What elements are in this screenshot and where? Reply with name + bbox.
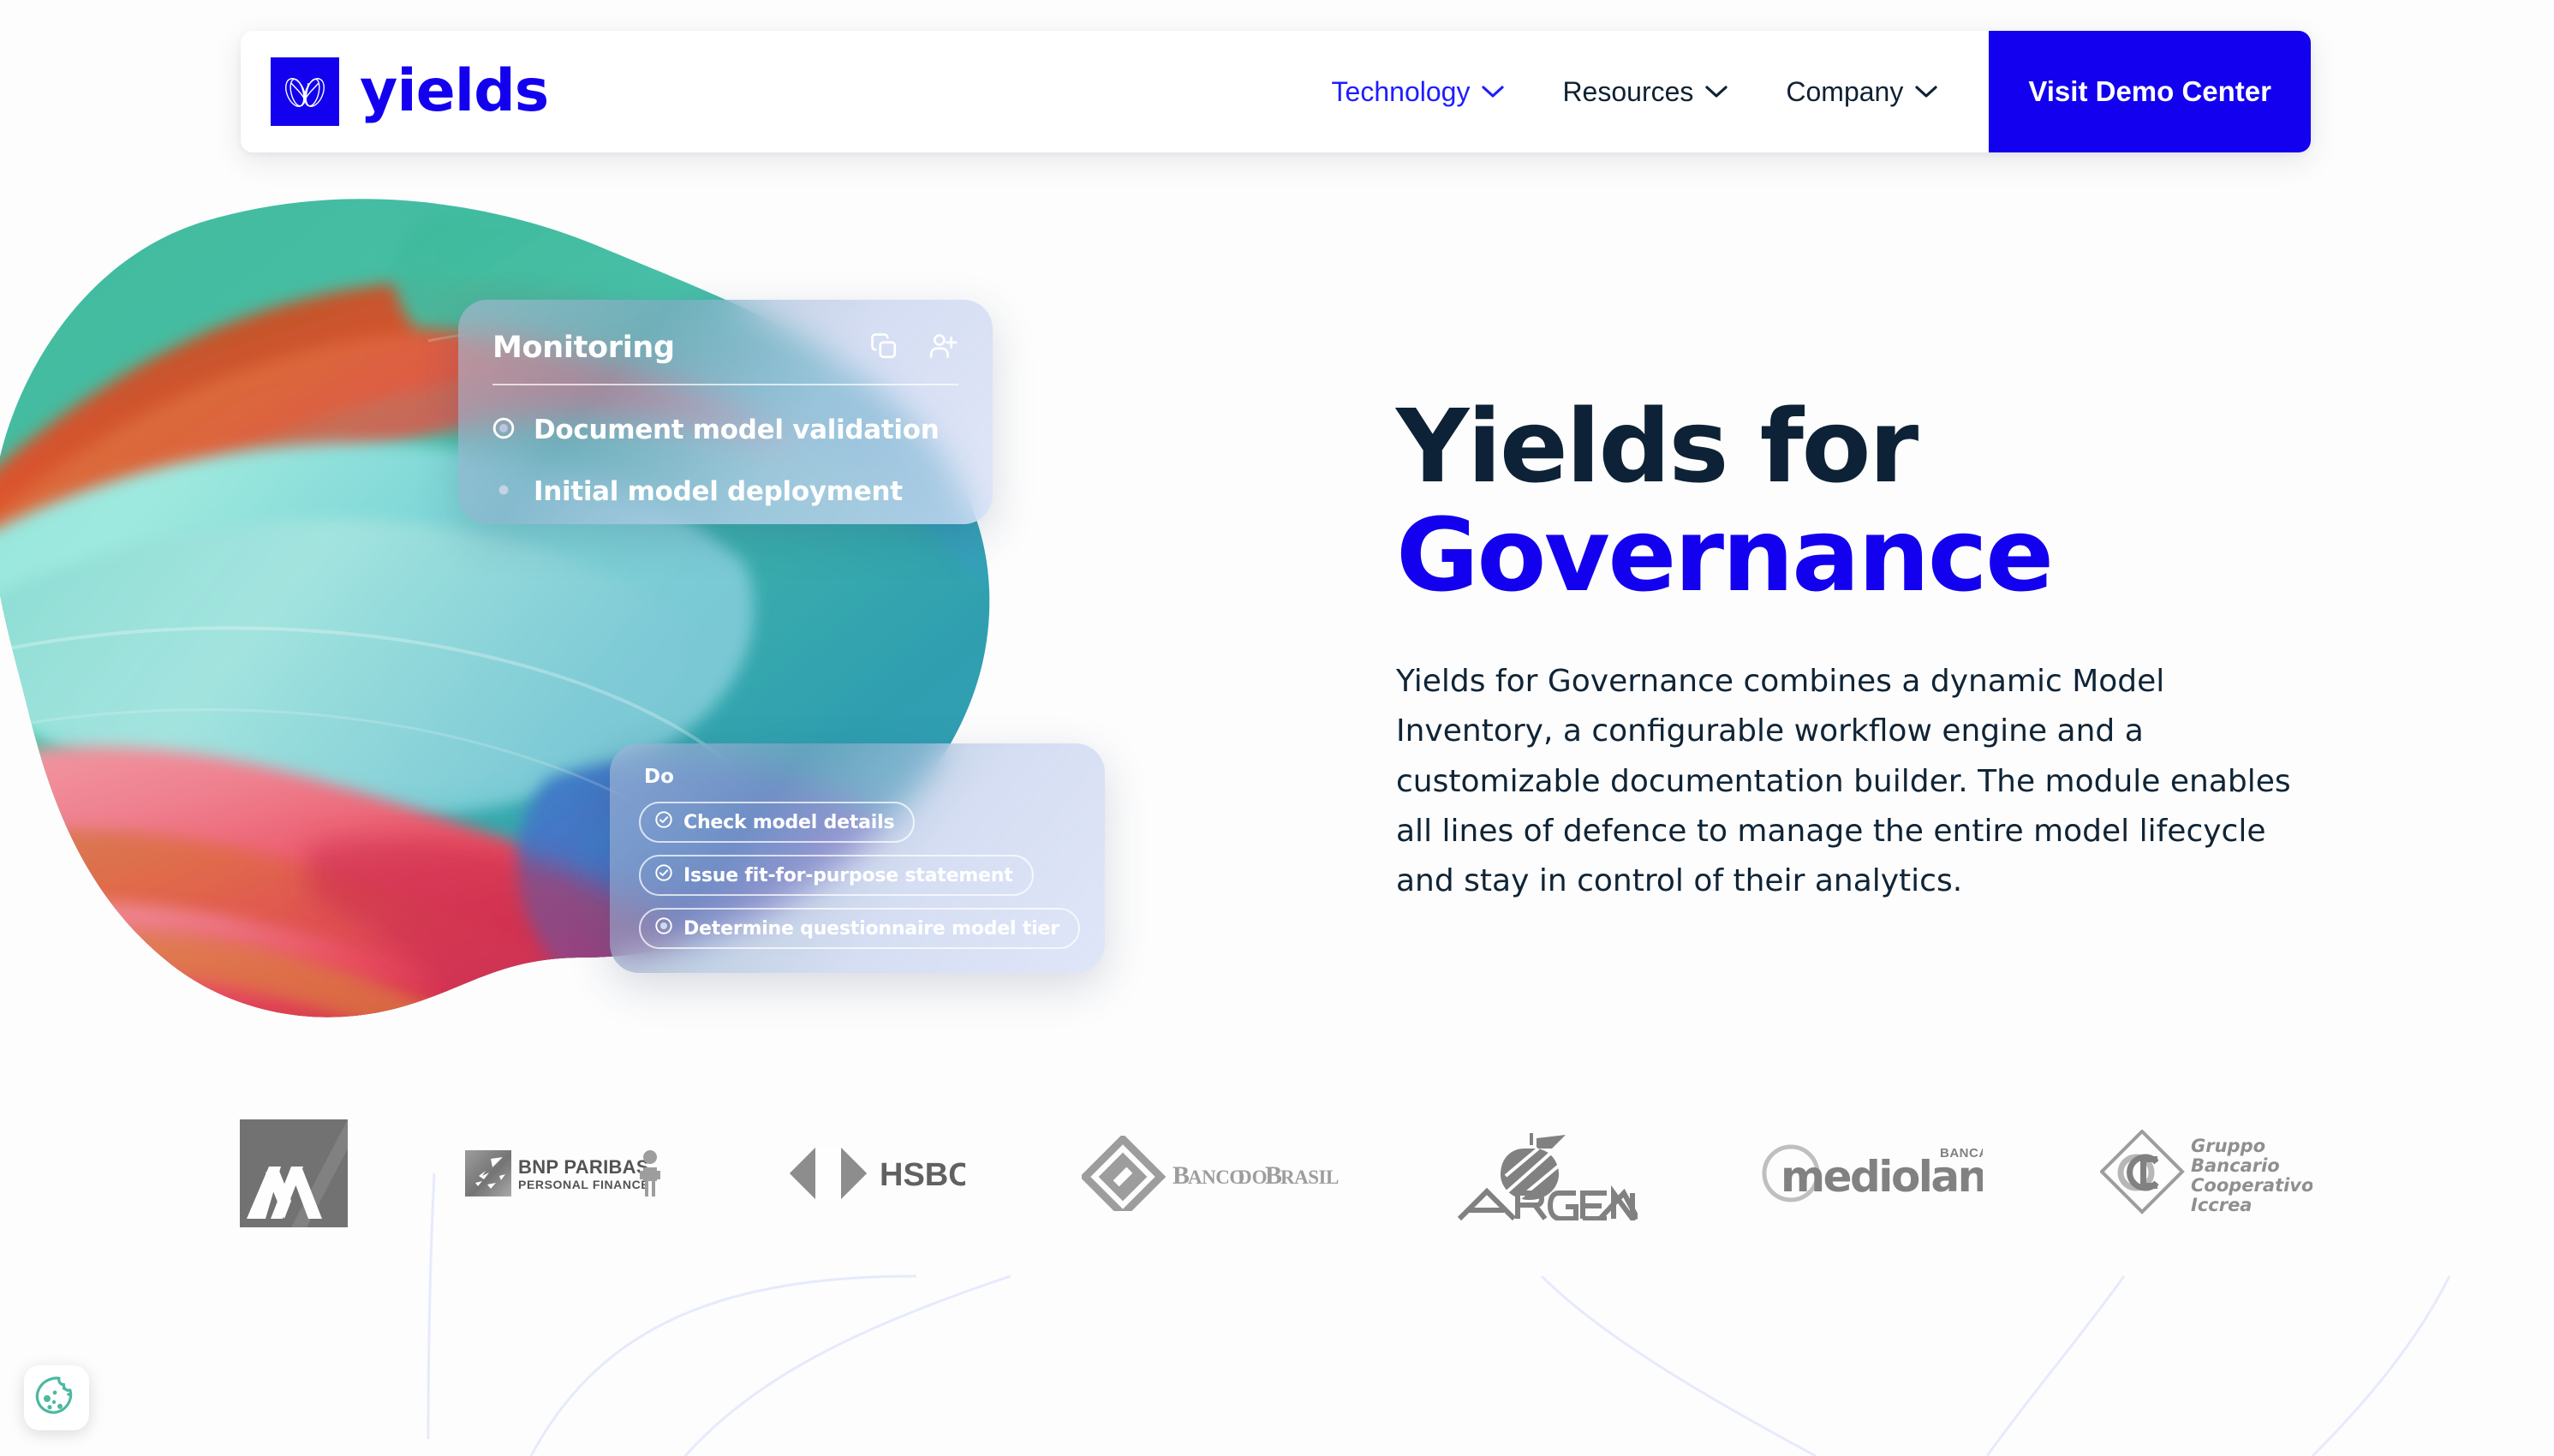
svg-text:BANCA: BANCA xyxy=(1940,1146,1983,1161)
svg-text:PERSONAL FINANCE: PERSONAL FINANCE xyxy=(518,1178,649,1191)
client-logo-strip: BNP PARIBAS PERSONAL FINANCE xyxy=(240,1109,2312,1238)
hero-title-line1: Yields for xyxy=(1396,387,1917,505)
cookie-icon xyxy=(33,1374,80,1423)
do-chip[interactable]: Issue fit-for-purpose statement xyxy=(639,855,1034,896)
monitoring-card-divider xyxy=(492,384,958,385)
page-root: yields Technology Resources Company xyxy=(0,0,2554,1456)
task-row[interactable]: Document model validation xyxy=(492,415,958,445)
cookie-settings-button[interactable] xyxy=(24,1365,89,1430)
svg-text:Iccrea: Iccrea xyxy=(2191,1195,2252,1215)
nav-item-company[interactable]: Company xyxy=(1757,76,1966,108)
hero-description: Yields for Governance combines a dynamic… xyxy=(1396,657,2321,907)
brand-logo-link[interactable]: yields xyxy=(271,57,548,126)
svg-text:RASIL: RASIL xyxy=(1280,1167,1339,1188)
axa-logo xyxy=(240,1119,348,1227)
visit-demo-center-button[interactable]: Visit Demo Center xyxy=(1989,31,2311,152)
monitoring-card: Monitoring xyxy=(458,300,993,524)
do-card: Do Check model details xyxy=(610,743,1105,973)
page-title: Yields for Governance xyxy=(1396,392,2338,611)
radio-dot-icon xyxy=(492,479,515,505)
chevron-down-icon xyxy=(1705,85,1728,98)
nav-item-resources[interactable]: Resources xyxy=(1533,76,1757,108)
svg-text:DO: DO xyxy=(1238,1167,1268,1188)
hero-copy: Yields for Governance Yields for Governa… xyxy=(1396,392,2338,906)
butterfly-lissajous-icon xyxy=(271,57,339,126)
svg-text:Bancario: Bancario xyxy=(2191,1155,2280,1176)
nav-item-label: Company xyxy=(1786,76,1903,108)
task-label: Initial model deployment xyxy=(534,476,903,507)
nav-item-label: Resources xyxy=(1562,76,1693,108)
svg-text:B: B xyxy=(1265,1161,1282,1190)
task-row[interactable]: Initial model deployment xyxy=(492,476,958,507)
radio-selected-icon xyxy=(492,417,515,444)
task-label: Document model validation xyxy=(534,415,940,445)
bnp-paribas-logo: BNP PARIBAS PERSONAL FINANCE xyxy=(465,1145,664,1202)
argenta-logo xyxy=(1456,1126,1638,1220)
iccrea-logo: Gruppo Bancario Cooperativo Iccrea xyxy=(2100,1130,2312,1217)
mediolanum-logo: mediolanum BANCA xyxy=(1755,1137,1983,1210)
do-chip-label: Issue fit-for-purpose statement xyxy=(683,865,1013,886)
hero-title-line2: Governance xyxy=(1396,501,2338,610)
svg-text:HSBC: HSBC xyxy=(880,1157,965,1193)
primary-nav: Technology Resources Company Visit Demo … xyxy=(1303,31,2311,152)
copy-icon[interactable] xyxy=(869,331,898,365)
monitoring-task-list: Document model validation Initial model … xyxy=(492,415,958,507)
hsbc-logo: HSBC xyxy=(781,1139,965,1208)
chevron-down-icon xyxy=(1482,85,1504,98)
nav-item-label: Technology xyxy=(1332,76,1471,108)
do-chip[interactable]: Determine questionnaire model tier xyxy=(639,908,1080,949)
radio-selected-icon xyxy=(654,916,673,940)
site-header: yields Technology Resources Company xyxy=(241,31,2311,152)
add-person-icon[interactable] xyxy=(928,331,958,365)
svg-text:Gruppo: Gruppo xyxy=(2191,1136,2265,1156)
do-chip-label: Check model details xyxy=(683,812,894,833)
monitoring-card-actions xyxy=(869,331,958,365)
svg-text:B: B xyxy=(1173,1161,1190,1190)
monitoring-card-title: Monitoring xyxy=(492,331,675,365)
banco-do-brasil-logo: B ANCO DO B RASIL xyxy=(1082,1136,1339,1211)
monitoring-card-header: Monitoring xyxy=(492,331,958,365)
chevron-down-icon xyxy=(1915,85,1937,98)
svg-text:BNP PARIBAS: BNP PARIBAS xyxy=(518,1156,649,1178)
svg-text:ANCO: ANCO xyxy=(1188,1167,1244,1188)
check-circle-icon xyxy=(654,863,673,887)
brand-name: yields xyxy=(360,63,548,121)
do-chip-row: Determine questionnaire model tier xyxy=(639,908,1076,961)
nav-item-technology[interactable]: Technology xyxy=(1303,76,1534,108)
do-card-title: Do xyxy=(644,766,1076,788)
hero-section: Monitoring xyxy=(0,152,2554,1095)
svg-text:Cooperativo: Cooperativo xyxy=(2191,1175,2312,1196)
do-chip-label: Determine questionnaire model tier xyxy=(683,918,1059,940)
do-chip-row: Check model details xyxy=(639,802,1076,855)
do-chip[interactable]: Check model details xyxy=(639,802,915,843)
check-circle-icon xyxy=(654,810,673,834)
do-chip-row: Issue fit-for-purpose statement xyxy=(639,855,1076,908)
